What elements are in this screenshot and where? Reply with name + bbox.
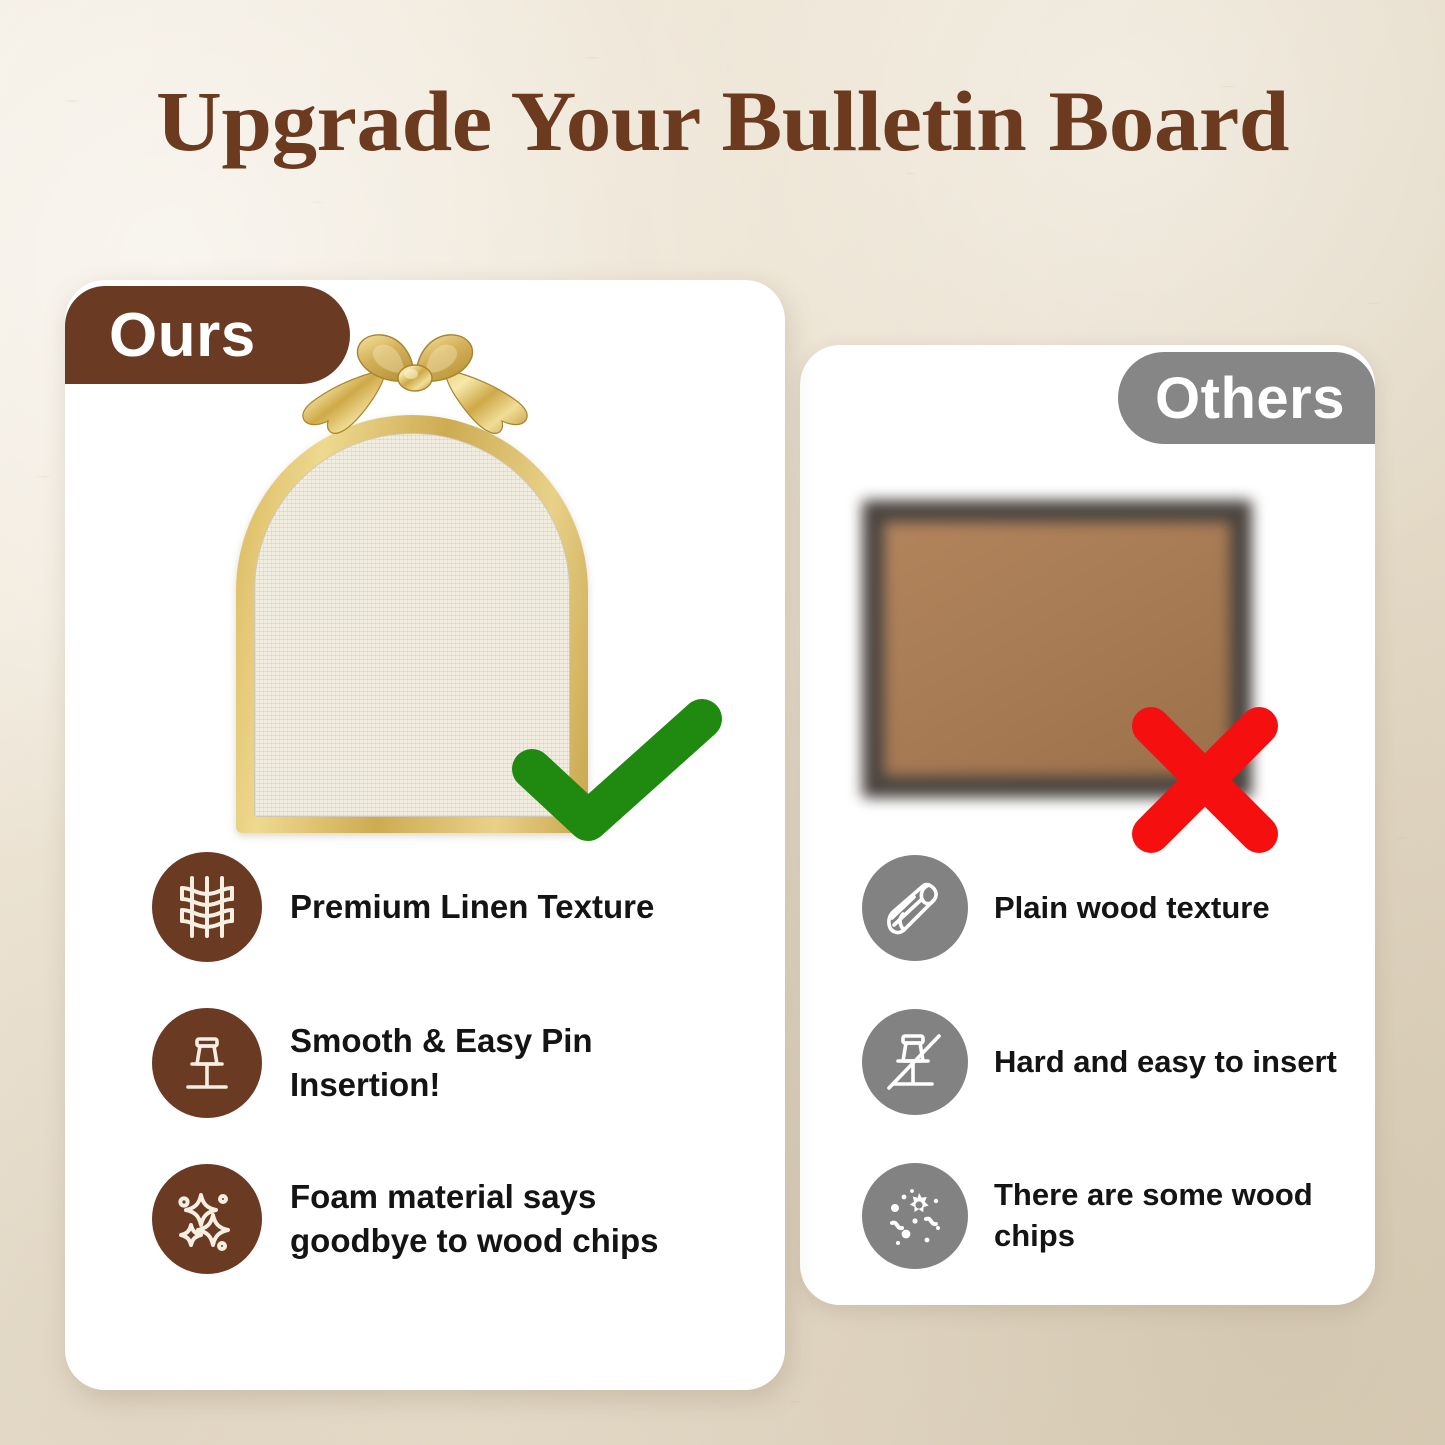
feature-item: Premium Linen Texture bbox=[152, 852, 712, 962]
ours-feature-list: Premium Linen Texture Smooth & Easy Pin … bbox=[152, 852, 712, 1320]
linen-weave-icon bbox=[152, 852, 262, 962]
gold-bow-ornament bbox=[290, 325, 540, 455]
pushpin-icon bbox=[152, 1008, 262, 1118]
feature-label: Hard and easy to insert bbox=[994, 1042, 1337, 1083]
wood-log-icon bbox=[862, 855, 968, 961]
feature-label: There are some wood chips bbox=[994, 1175, 1342, 1257]
page-title: Upgrade Your Bulletin Board bbox=[0, 78, 1445, 164]
feature-label: Foam material says goodbye to wood chips bbox=[290, 1175, 712, 1262]
sparkles-icon bbox=[152, 1164, 262, 1274]
feature-item: Plain wood texture bbox=[862, 855, 1342, 961]
cross-icon bbox=[1125, 700, 1285, 860]
feature-label: Premium Linen Texture bbox=[290, 885, 654, 929]
feature-item: There are some wood chips bbox=[862, 1163, 1342, 1269]
feature-label: Smooth & Easy Pin Insertion! bbox=[290, 1019, 712, 1106]
others-badge: Others bbox=[1118, 352, 1375, 444]
feature-label: Plain wood texture bbox=[994, 888, 1270, 929]
feature-item: Hard and easy to insert bbox=[862, 1009, 1342, 1115]
pushpin-prohibited-icon bbox=[862, 1009, 968, 1115]
feature-item: Foam material says goodbye to wood chips bbox=[152, 1164, 712, 1274]
feature-item: Smooth & Easy Pin Insertion! bbox=[152, 1008, 712, 1118]
others-feature-list: Plain wood texture Hard and easy to inse… bbox=[862, 855, 1342, 1317]
check-icon bbox=[512, 697, 722, 842]
others-badge-label: Others bbox=[1155, 365, 1345, 432]
wood-chips-debris-icon bbox=[862, 1163, 968, 1269]
